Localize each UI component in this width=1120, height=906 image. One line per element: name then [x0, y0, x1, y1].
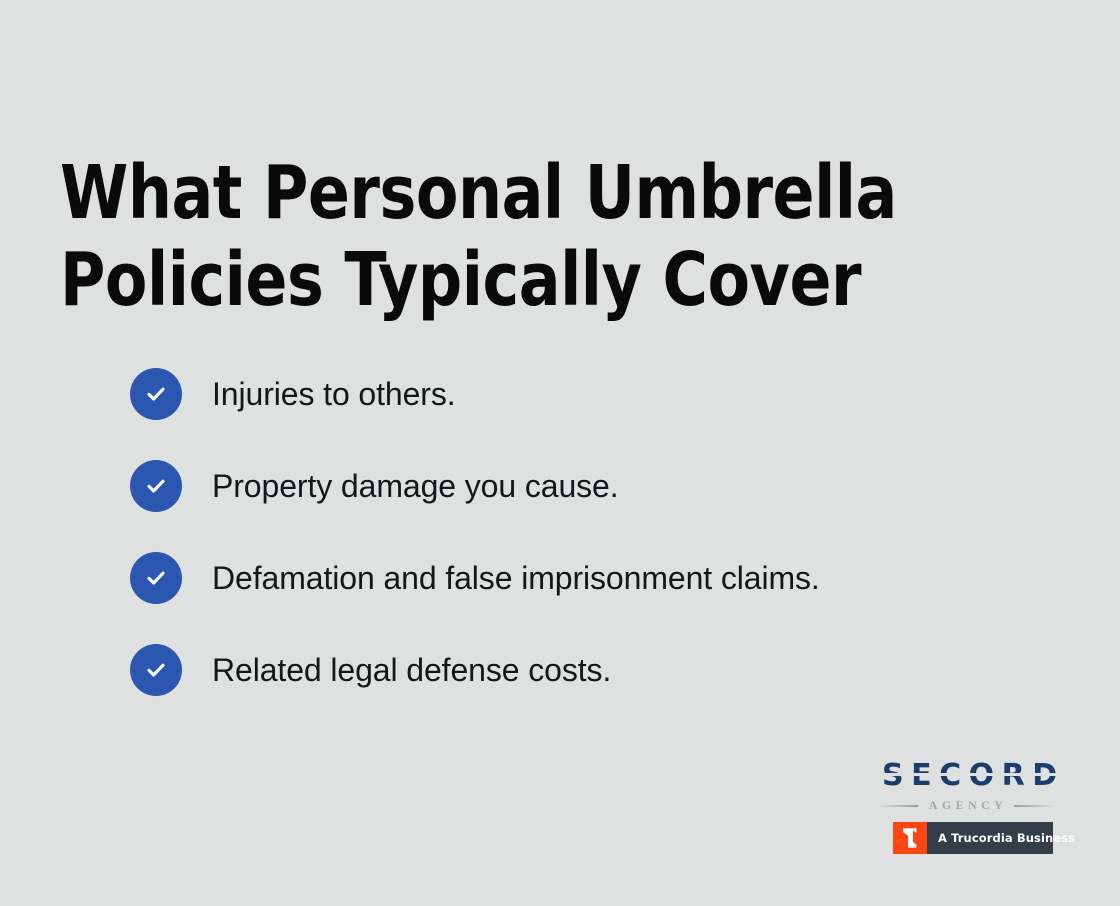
secord-agency-logo: SECORD AGENCY A Trucordia Business	[876, 760, 1056, 854]
check-icon	[130, 552, 182, 604]
logo-rule-right	[1014, 805, 1056, 807]
slide-canvas: What Personal Umbrella Policies Typicall…	[0, 0, 1120, 906]
check-icon	[130, 368, 182, 420]
logo-wordmark-text: SECORD	[882, 758, 1065, 793]
page-title: What Personal Umbrella Policies Typicall…	[60, 150, 897, 324]
list-item-label: Injuries to others.	[212, 376, 456, 412]
list-item: Defamation and false imprisonment claims…	[130, 550, 1030, 606]
logo-subtitle-text: AGENCY	[925, 798, 1007, 813]
list-item: Injuries to others.	[130, 366, 1030, 422]
trucordia-t-icon	[893, 822, 927, 854]
check-icon	[130, 460, 182, 512]
trucordia-badge: A Trucordia Business	[893, 822, 1053, 854]
trucordia-badge-label: A Trucordia Business	[927, 822, 1075, 854]
check-icon	[130, 644, 182, 696]
logo-wordmark: SECORD	[876, 760, 1056, 792]
logo-subtitle: AGENCY	[876, 798, 1056, 813]
list-item: Property damage you cause.	[130, 458, 1030, 514]
logo-rule-left	[876, 805, 918, 807]
list-item: Related legal defense costs.	[130, 642, 1030, 698]
list-item-label: Related legal defense costs.	[212, 652, 611, 688]
coverage-list: Injuries to others. Property damage you …	[130, 366, 1030, 734]
list-item-label: Property damage you cause.	[212, 468, 619, 504]
list-item-label: Defamation and false imprisonment claims…	[212, 560, 820, 596]
